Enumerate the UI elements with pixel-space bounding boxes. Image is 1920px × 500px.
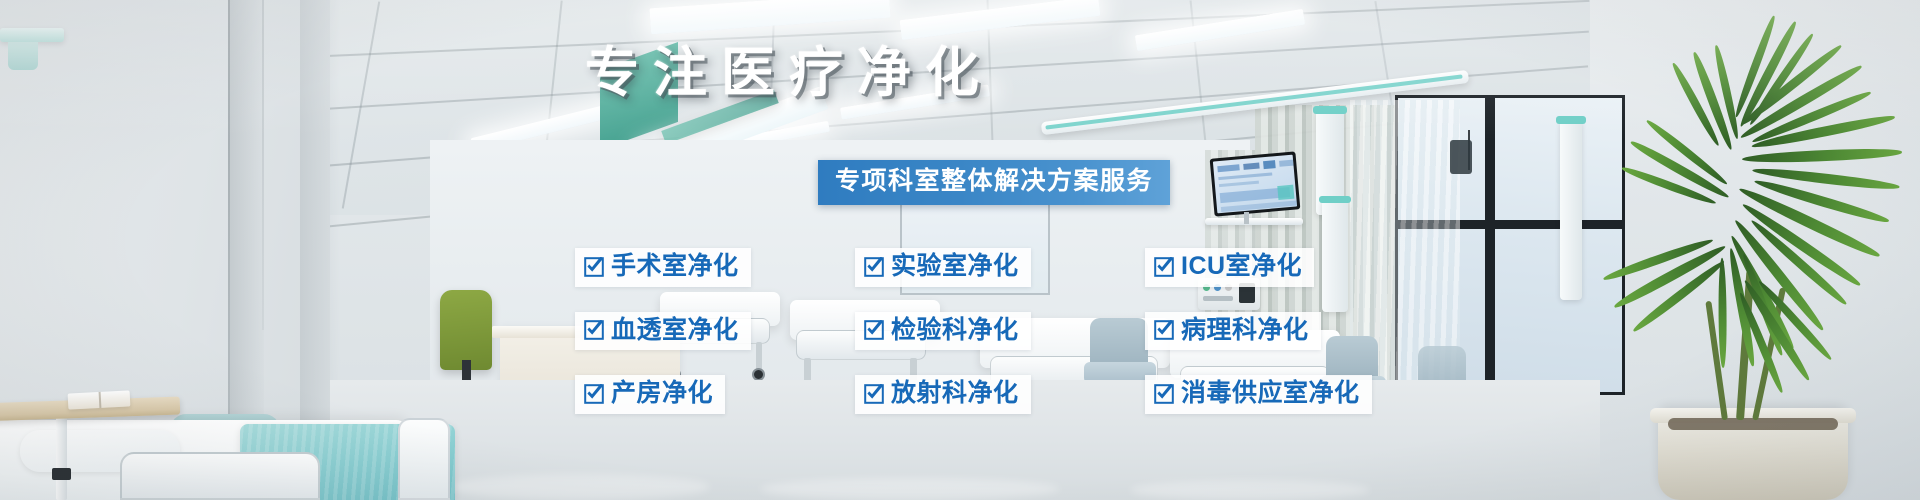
feature-item[interactable]: 产房净化 bbox=[575, 375, 725, 414]
column-teal-cap bbox=[1313, 106, 1347, 114]
wall-seam bbox=[262, 0, 264, 330]
feature-item[interactable]: 血透室净化 bbox=[575, 312, 751, 351]
feature-label: 手术室净化 bbox=[611, 253, 739, 281]
checkbox-checked-icon bbox=[584, 257, 604, 277]
checkbox-checked-icon bbox=[1154, 257, 1174, 277]
plant-soil bbox=[1668, 418, 1838, 430]
iv-bag bbox=[1450, 140, 1472, 174]
open-book bbox=[68, 390, 131, 409]
feature-label: ICU室净化 bbox=[1181, 253, 1302, 281]
feature-item[interactable]: 放射科净化 bbox=[855, 375, 1031, 414]
checkbox-checked-icon bbox=[864, 384, 884, 404]
office-chair[interactable] bbox=[440, 290, 492, 370]
bed-headboard bbox=[398, 418, 450, 500]
banner-headline: 专注医疗净化 bbox=[585, 40, 993, 108]
feature-item[interactable]: 消毒供应室净化 bbox=[1145, 375, 1372, 414]
checkbox-checked-icon bbox=[584, 384, 604, 404]
banner-subtitle-bar: 专项科室整体解决方案服务 bbox=[818, 160, 1170, 205]
feature-label: 实验室净化 bbox=[891, 253, 1019, 281]
feature-label: 血透室净化 bbox=[611, 317, 739, 345]
checkbox-checked-icon bbox=[864, 320, 884, 340]
patient-monitor bbox=[1210, 151, 1301, 216]
hospital-purification-banner: 专注医疗净化 专项科室整体解决方案服务 手术室净化实验室净化ICU室净化血透室净… bbox=[0, 0, 1920, 500]
table-height-clamp bbox=[52, 468, 71, 480]
bed-side-rail bbox=[120, 452, 320, 500]
feature-label: 消毒供应室净化 bbox=[1181, 380, 1360, 408]
overbed-table-leg bbox=[56, 414, 67, 500]
checkbox-checked-icon bbox=[864, 257, 884, 277]
pendant-teal-cap bbox=[1319, 196, 1351, 203]
checkbox-checked-icon bbox=[584, 320, 604, 340]
checkbox-checked-icon bbox=[1154, 384, 1174, 404]
plant-pot bbox=[1658, 408, 1848, 500]
potted-palm-plant bbox=[1540, 80, 1920, 500]
feature-label: 产房净化 bbox=[611, 380, 713, 408]
feature-item[interactable]: 手术室净化 bbox=[575, 248, 751, 287]
feature-item[interactable]: ICU室净化 bbox=[1145, 248, 1314, 287]
window-mullion bbox=[1485, 95, 1495, 395]
feature-list: 手术室净化实验室净化ICU室净化血透室净化检验科净化病理科净化产房净化放射科净化… bbox=[575, 248, 1372, 414]
feature-item[interactable]: 病理科净化 bbox=[1145, 312, 1321, 351]
feature-label: 病理科净化 bbox=[1181, 317, 1309, 345]
wall-lamp bbox=[0, 28, 64, 42]
banner-subtitle-text: 专项科室整体解决方案服务 bbox=[835, 167, 1153, 195]
checkbox-checked-icon bbox=[1154, 320, 1174, 340]
feature-item[interactable]: 检验科净化 bbox=[855, 312, 1031, 351]
monitor-shelf bbox=[1205, 218, 1303, 225]
feature-label: 检验科净化 bbox=[891, 317, 1019, 345]
feature-label: 放射科净化 bbox=[891, 380, 1019, 408]
monitor-screen bbox=[1213, 155, 1297, 214]
feature-item[interactable]: 实验室净化 bbox=[855, 248, 1031, 287]
wall-lamp-shade bbox=[8, 42, 38, 70]
monitor-arm bbox=[1244, 212, 1249, 224]
